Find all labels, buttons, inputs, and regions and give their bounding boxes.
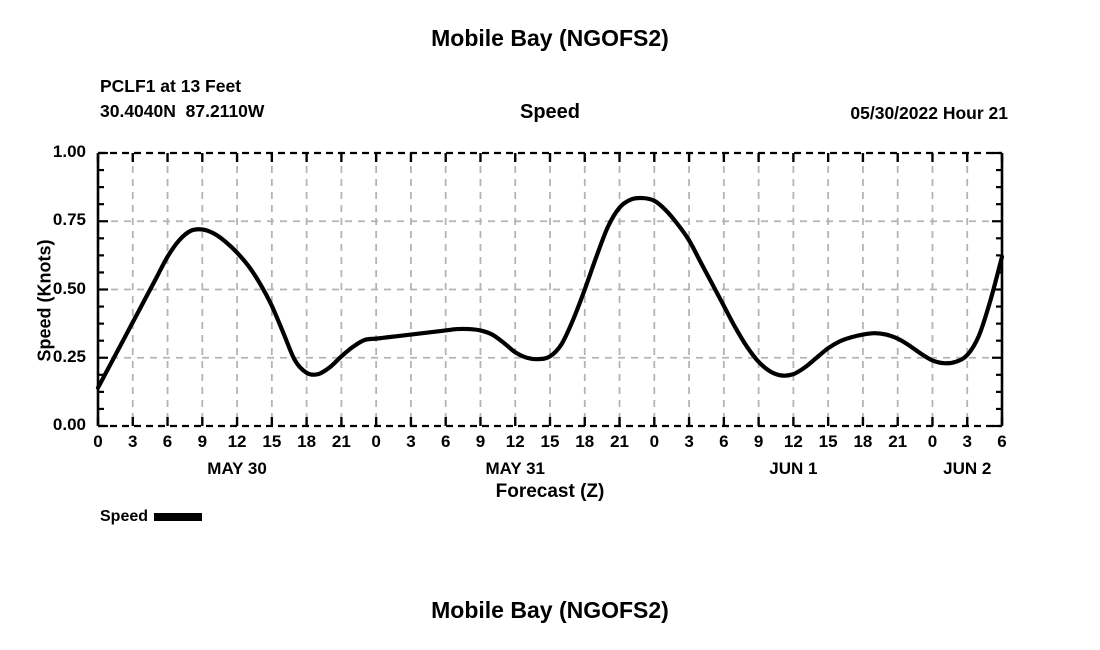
- y-tick-label: 0.25: [26, 347, 86, 367]
- day-label: MAY 30: [157, 459, 317, 479]
- y-tick-label: 0.75: [26, 210, 86, 230]
- y-tick-label: 0.00: [26, 415, 86, 435]
- y-tick-label: 1.00: [26, 142, 86, 162]
- y-tick-label: 0.50: [26, 279, 86, 299]
- page-title-bottom: Mobile Bay (NGOFS2): [0, 597, 1100, 624]
- legend-label-speed: Speed: [100, 508, 148, 526]
- chart-svg: [0, 0, 1100, 650]
- chart-page: Mobile Bay (NGOFS2) PCLF1 at 13 Feet30.4…: [0, 0, 1100, 650]
- speed-line: [98, 198, 1002, 388]
- day-label: JUN 1: [713, 459, 873, 479]
- legend: Speed: [100, 508, 202, 526]
- gridlines: [98, 153, 1002, 426]
- day-label: JUN 2: [887, 459, 1047, 479]
- plot-area: Speed (Knots) Forecast (Z) 0.000.250.500…: [0, 0, 1100, 650]
- x-tick-label: 6: [982, 432, 1022, 452]
- y-axis-title: Speed (Knots): [35, 201, 56, 401]
- day-label: MAY 31: [435, 459, 595, 479]
- x-axis-title: Forecast (Z): [98, 481, 1002, 503]
- legend-swatch-speed: [154, 513, 202, 521]
